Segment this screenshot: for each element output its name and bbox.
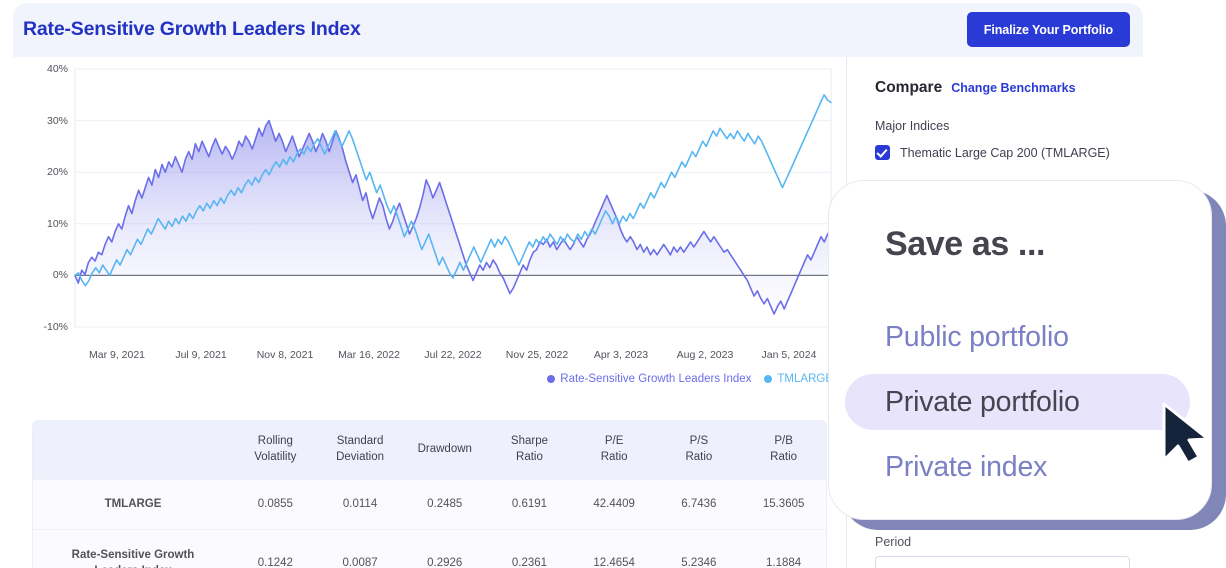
header-line1: P/E	[605, 435, 624, 447]
cell-sharpe-ratio: 0.6191	[487, 479, 572, 529]
cell-ps-ratio: 5.2346	[657, 529, 742, 568]
header-cell-rolling-volatility: Rolling Volatility	[233, 421, 318, 479]
app-header: Rate-Sensitive Growth Leaders Index Fina…	[13, 3, 1143, 57]
header-cell-pe-ratio: P/E Ratio	[572, 421, 657, 479]
y-tick-label: 30%	[22, 115, 68, 127]
legend-label: Rate-Sensitive Growth Leaders Index	[560, 373, 751, 385]
page-title: Rate-Sensitive Growth Leaders Index	[23, 18, 361, 41]
x-tick-label: Nov 25, 2022	[506, 349, 568, 361]
table-row[interactable]: Rate-Sensitive Growth Leaders Index 0.12…	[33, 529, 826, 568]
header-cell-drawdown: Drawdown	[402, 421, 487, 479]
table-row[interactable]: TMLARGE 0.0855 0.0114 0.2485 0.6191 42.4…	[33, 479, 826, 529]
save-as-title: Save as ...	[885, 225, 1045, 264]
period-input[interactable]	[875, 556, 1130, 568]
header-line1: P/B	[774, 435, 793, 447]
legend-item[interactable]: TMLARGE	[764, 373, 833, 385]
x-tick-label: Jul 9, 2021	[175, 349, 226, 361]
cell-pe-ratio: 42.4409	[572, 479, 657, 529]
y-tick-label: 40%	[22, 63, 68, 75]
checkbox-label-tmlarge: Thematic Large Cap 200 (TMLARGE)	[900, 146, 1110, 160]
chart-legend: Rate-Sensitive Growth Leaders IndexTMLAR…	[13, 373, 833, 385]
x-tick-label: Mar 9, 2021	[89, 349, 145, 361]
mouse-cursor-icon	[1162, 402, 1214, 464]
row-name-line1: Rate-Sensitive Growth	[72, 549, 195, 561]
metrics-table: Rolling Volatility Standard Deviation Dr…	[33, 421, 826, 568]
legend-item[interactable]: Rate-Sensitive Growth Leaders Index	[547, 373, 751, 385]
performance-chart: 40%30%20%10%0%-10%	[13, 57, 846, 347]
save-as-option-private-portfolio[interactable]: Private portfolio	[845, 374, 1190, 430]
chart-x-axis: Mar 9, 2021Jul 9, 2021Nov 8, 2021Mar 16,…	[13, 349, 846, 369]
screenshot-root: Rate-Sensitive Growth Leaders Index Fina…	[0, 0, 1226, 568]
header-line2: Ratio	[685, 451, 712, 463]
cell-sharpe-ratio: 0.2361	[487, 529, 572, 568]
y-tick-label: 20%	[22, 166, 68, 178]
cell-pb-ratio: 15.3605	[741, 479, 826, 529]
metrics-header-row: Rolling Volatility Standard Deviation Dr…	[33, 421, 826, 479]
metrics-table-head: Rolling Volatility Standard Deviation Dr…	[33, 421, 826, 479]
cell-drawdown: 0.2926	[402, 529, 487, 568]
cell-rolling-volatility: 0.0855	[233, 479, 318, 529]
benchmark-checkbox-row[interactable]: Thematic Large Cap 200 (TMLARGE)	[875, 145, 1110, 160]
metrics-table-container: Rolling Volatility Standard Deviation Dr…	[32, 420, 827, 568]
x-tick-label: Aug 2, 2023	[677, 349, 734, 361]
major-indices-label: Major Indices	[875, 119, 949, 133]
header-line2: Ratio	[770, 451, 797, 463]
chart-canvas	[13, 57, 846, 349]
header-line2: Ratio	[516, 451, 543, 463]
header-line2: Volatility	[254, 451, 296, 463]
save-as-popup: Save as ... Public portfolio Private por…	[828, 180, 1212, 520]
legend-dot-icon	[764, 375, 772, 383]
x-tick-label: Jul 22, 2022	[424, 349, 481, 361]
cell-standard-deviation: 0.0114	[318, 479, 403, 529]
legend-label: TMLARGE	[777, 373, 833, 385]
y-tick-label: 10%	[22, 218, 68, 230]
header-line1: Standard	[337, 435, 384, 447]
header-line2: Deviation	[336, 451, 384, 463]
cell-ps-ratio: 6.7436	[657, 479, 742, 529]
row-name-index[interactable]: Rate-Sensitive Growth Leaders Index	[33, 529, 233, 568]
header-line1: P/S	[690, 435, 709, 447]
cell-pe-ratio: 12.4654	[572, 529, 657, 568]
header-line1: Sharpe	[511, 435, 548, 447]
chart-and-table-pane: 40%30%20%10%0%-10% Mar 9, 2021Jul 9, 202…	[13, 57, 846, 568]
save-as-option-private-index[interactable]: Private index	[845, 439, 1190, 495]
row-name-tmlarge[interactable]: TMLARGE	[33, 479, 233, 529]
checkbox-tmlarge[interactable]	[875, 145, 890, 160]
finalize-portfolio-button[interactable]: Finalize Your Portfolio	[967, 12, 1130, 47]
header-cell-ps-ratio: P/S Ratio	[657, 421, 742, 479]
cell-drawdown: 0.2485	[402, 479, 487, 529]
cell-pb-ratio: 1.1884	[741, 529, 826, 568]
y-tick-label: -10%	[22, 321, 68, 333]
header-cell-standard-deviation: Standard Deviation	[318, 421, 403, 479]
header-cell-pb-ratio: P/B Ratio	[741, 421, 826, 479]
header-line1: Drawdown	[418, 443, 472, 455]
metrics-table-body: TMLARGE 0.0855 0.0114 0.2485 0.6191 42.4…	[33, 479, 826, 568]
period-label: Period	[875, 535, 911, 549]
change-benchmarks-link[interactable]: Change Benchmarks	[951, 81, 1075, 95]
x-tick-label: Mar 16, 2022	[338, 349, 400, 361]
y-tick-label: 0%	[22, 269, 68, 281]
compare-title: Compare	[875, 79, 942, 97]
x-tick-label: Jan 5, 2024	[762, 349, 817, 361]
compare-header: Compare Change Benchmarks	[875, 79, 1076, 97]
legend-dot-icon	[547, 375, 555, 383]
save-as-option-public-portfolio[interactable]: Public portfolio	[845, 309, 1190, 365]
header-cell-name	[33, 421, 233, 479]
header-line2: Ratio	[601, 451, 628, 463]
cell-standard-deviation: 0.0087	[318, 529, 403, 568]
header-cell-sharpe-ratio: Sharpe Ratio	[487, 421, 572, 479]
x-tick-label: Nov 8, 2021	[257, 349, 314, 361]
x-tick-label: Apr 3, 2023	[594, 349, 648, 361]
chart-y-axis: 40%30%20%10%0%-10%	[22, 57, 68, 347]
header-line1: Rolling	[258, 435, 293, 447]
cell-rolling-volatility: 0.1242	[233, 529, 318, 568]
